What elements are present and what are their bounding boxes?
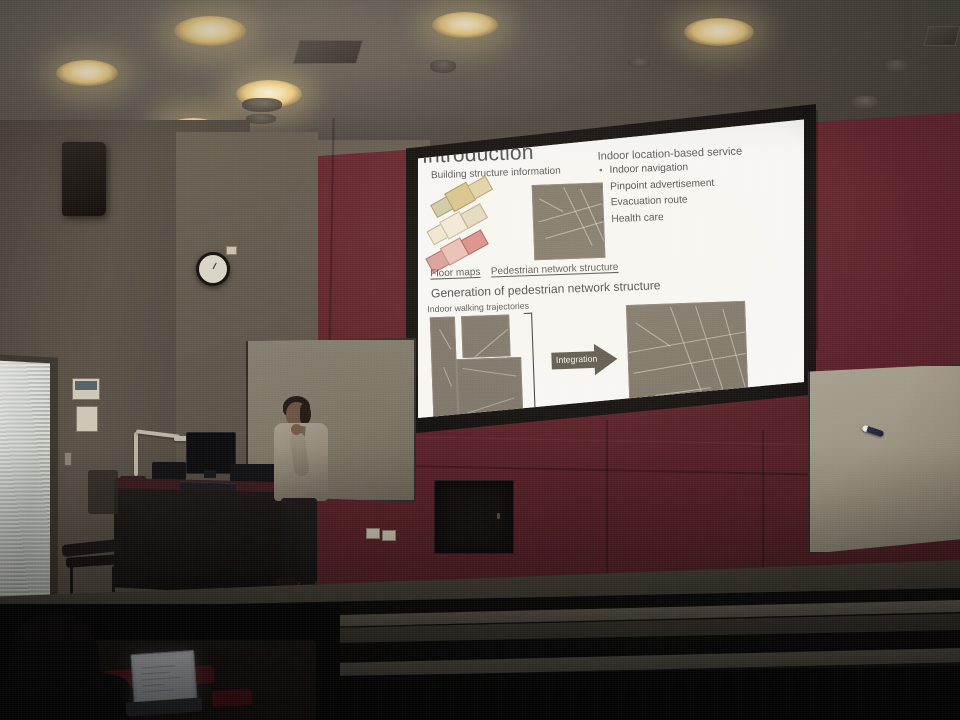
laptop-screen-line-1 (141, 665, 175, 668)
bullet-item-2: Pinpoint advertisement (599, 175, 792, 193)
glass-door-with-blinds[interactable] (0, 361, 50, 610)
wall-outlet-4[interactable] (226, 246, 237, 255)
presentation-slide: Introduction Building structure informat… (418, 118, 804, 418)
laptop-screen-line-4 (142, 684, 164, 687)
wall-speaker (62, 142, 106, 216)
wall-access-panel[interactable] (434, 480, 514, 554)
wall-seam-5 (816, 110, 818, 350)
ceiling-light-6 (684, 18, 754, 46)
audience-member-shoulder (0, 672, 130, 720)
bullet-item-1: Indoor navigation (598, 159, 791, 177)
integration-arrow-label: Integration (553, 353, 599, 365)
slide-right-heading: Indoor location-based service (597, 145, 742, 163)
wall-switch[interactable] (64, 452, 72, 466)
wall-control-panel[interactable] (72, 378, 100, 400)
seat-cushion-2[interactable] (212, 689, 253, 707)
ceiling-speaker-3 (246, 114, 276, 124)
document-camera-arm-vertical (134, 432, 138, 476)
ceiling-speaker-4 (628, 58, 650, 68)
access-panel-latch (497, 513, 500, 519)
presenter-hand (291, 424, 302, 435)
laptop-screen-line-5 (143, 689, 175, 692)
figure-label-network-structure: Pedestrian network structure (491, 261, 619, 277)
ceiling-speaker-5 (884, 60, 908, 72)
door-light-glare (0, 361, 50, 610)
ceiling-vent-1 (293, 40, 364, 64)
ceiling-light-2 (56, 60, 118, 86)
trajectory-panel-3 (456, 357, 523, 418)
trajectories-label: Indoor walking trajectories (427, 300, 529, 314)
bullet-item-4: Health care (600, 208, 793, 226)
wall-seam-2 (606, 420, 608, 600)
trajectories-brace (524, 313, 536, 418)
laptop-screen (135, 654, 194, 702)
ceiling-speaker-6 (852, 96, 878, 108)
presenter-hair-back (300, 404, 311, 424)
podium-monitor[interactable] (186, 432, 236, 474)
control-panel-screen (75, 381, 97, 390)
presenter-leg-right (300, 520, 315, 588)
trajectory-panel-1 (430, 316, 459, 418)
chair-secondary[interactable] (88, 470, 118, 514)
laptop-screen-line-3 (142, 677, 180, 681)
figure-label-floor-maps: Floor maps (430, 266, 481, 279)
trajectory-panel-2 (461, 315, 511, 358)
whiteboard-right-wall (808, 364, 960, 554)
projection-screen-surface[interactable]: Introduction Building structure informat… (418, 118, 804, 418)
podium-document-camera-base (230, 464, 276, 482)
lecture-hall-photo: Introduction Building structure informat… (0, 0, 960, 720)
slide-section-heading: Generation of pedestrian network structu… (431, 279, 661, 301)
ceiling-speaker-1 (430, 60, 456, 73)
wall-plate (76, 406, 98, 432)
laptop-screen-line-2 (142, 672, 170, 675)
wall-clock (196, 252, 230, 286)
bullet-item-3: Evacuation route (599, 192, 792, 210)
slide-bullet-list: Indoor navigation Pinpoint advertisement… (598, 159, 792, 231)
ceiling-vent-2 (924, 26, 960, 46)
whiteboard-right-shadow-overlay (810, 366, 960, 552)
podium-monitor-stand (204, 470, 216, 478)
integration-arrow: Integration (551, 343, 619, 377)
wall-outlet-2[interactable] (382, 530, 396, 541)
wall-outlet-1[interactable] (366, 528, 380, 539)
ceiling-light-5 (432, 12, 498, 38)
podium-equipment-box (152, 462, 186, 480)
podium (114, 488, 282, 596)
ceiling-speaker-2 (242, 98, 282, 112)
ceiling-light-1 (174, 16, 246, 46)
pedestrian-network-figure (532, 183, 606, 261)
